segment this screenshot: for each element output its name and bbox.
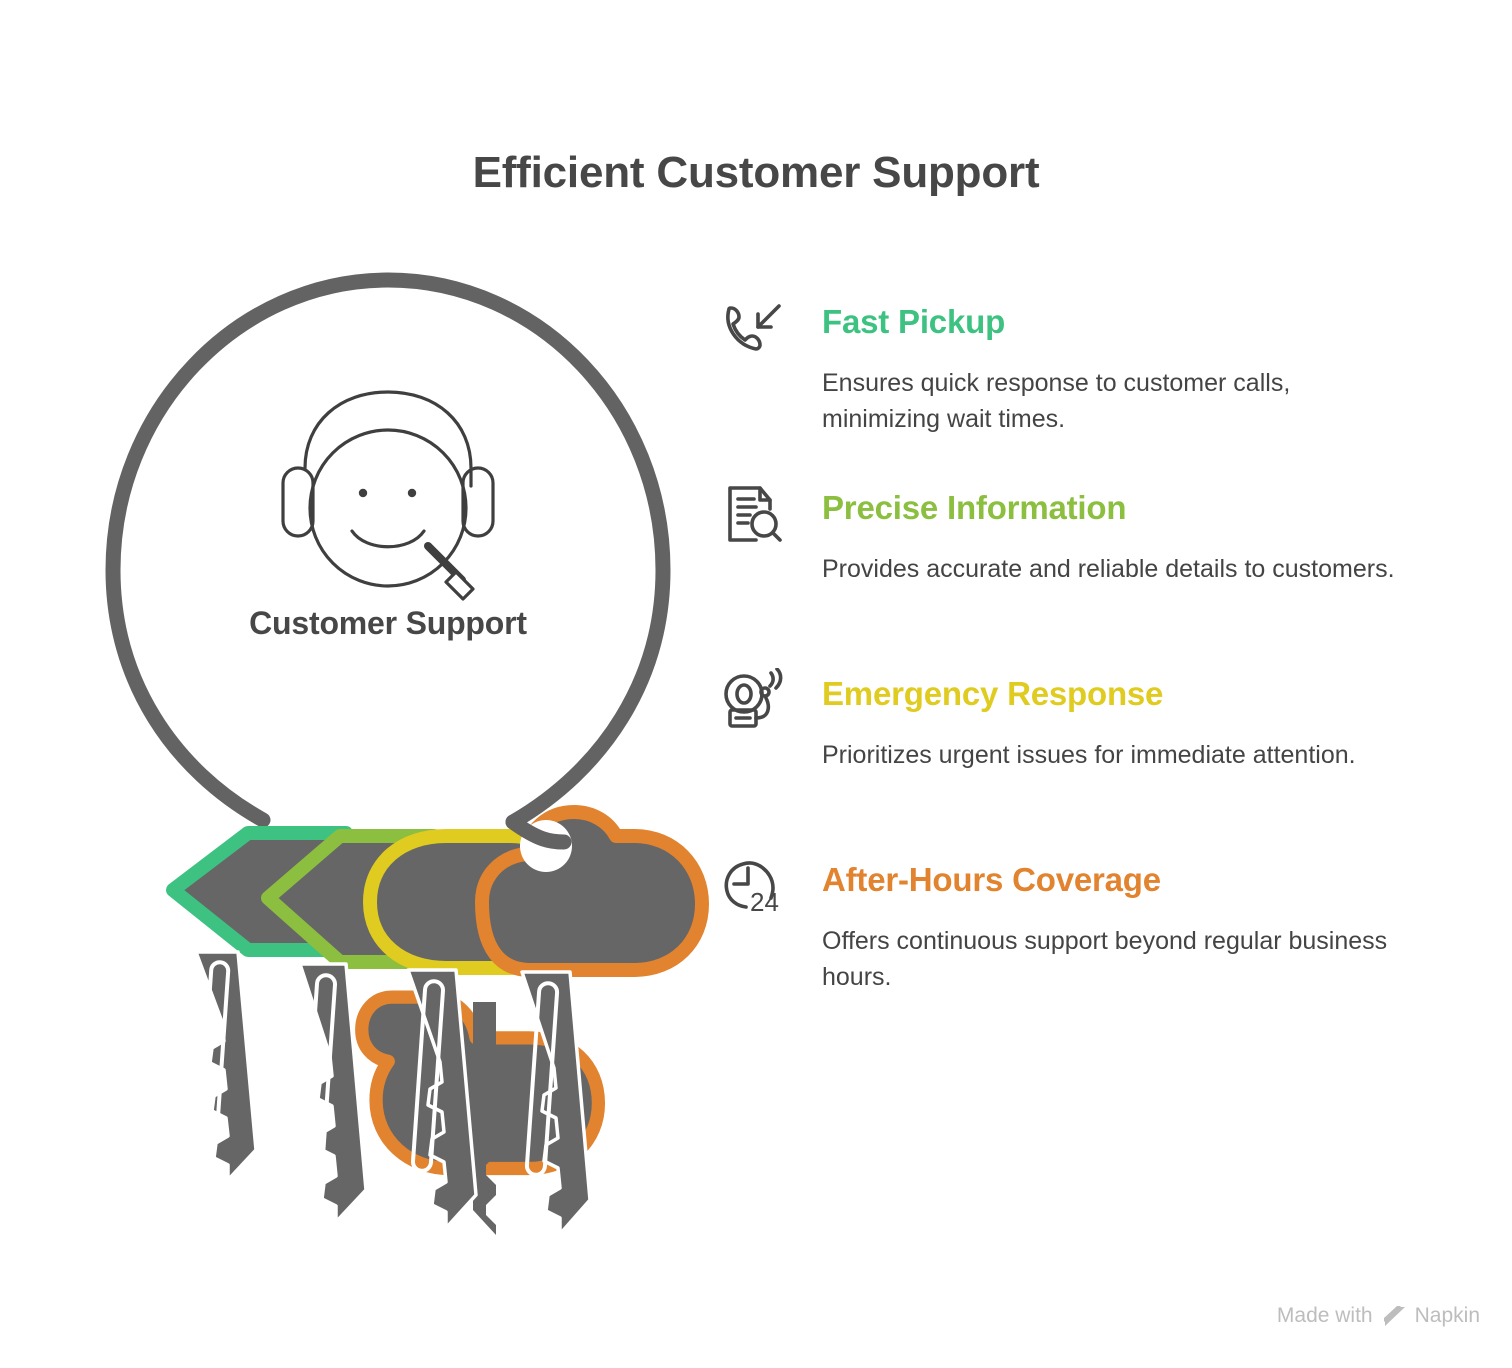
headset-smiley-magnifier-icon [283, 392, 493, 599]
napkin-logo-icon [1382, 1305, 1406, 1327]
keyring-illustration: Customer Support [78, 250, 718, 1260]
feature-item-precise-information: Precise Information Provides accurate an… [712, 476, 1432, 662]
page-title: Efficient Customer Support [0, 148, 1512, 198]
feature-item-emergency-response: Emergency Response Prioritizes urgent is… [712, 662, 1432, 848]
feature-description: Offers continuous support beyond regular… [822, 924, 1402, 995]
feature-title: Precise Information [822, 476, 1432, 526]
clock-24-icon: 24 [720, 854, 786, 920]
alarm-siren-icon [720, 668, 786, 734]
feature-title: Emergency Response [822, 662, 1432, 712]
keyring-center-label: Customer Support [78, 605, 698, 642]
feature-title: After-Hours Coverage [822, 848, 1432, 898]
document-search-icon [720, 482, 786, 548]
svg-text:24: 24 [750, 887, 779, 917]
feature-item-after-hours-coverage: 24 After-Hours Coverage Offers continuou… [712, 848, 1432, 1034]
feature-description: Ensures quick response to customer calls… [822, 366, 1402, 437]
feature-description: Provides accurate and reliable details t… [822, 552, 1402, 588]
made-with-label: Made with [1277, 1304, 1373, 1328]
incoming-call-icon [720, 296, 786, 362]
feature-item-fast-pickup: Fast Pickup Ensures quick response to cu… [712, 290, 1432, 476]
key-ring-circle [113, 280, 663, 822]
feature-description: Prioritizes urgent issues for immediate … [822, 738, 1402, 774]
feature-list: Fast Pickup Ensures quick response to cu… [712, 290, 1432, 1034]
feature-title: Fast Pickup [822, 290, 1432, 340]
footer-branding: Made with Napkin [1277, 1304, 1480, 1328]
napkin-brand-label: Napkin [1415, 1304, 1480, 1328]
